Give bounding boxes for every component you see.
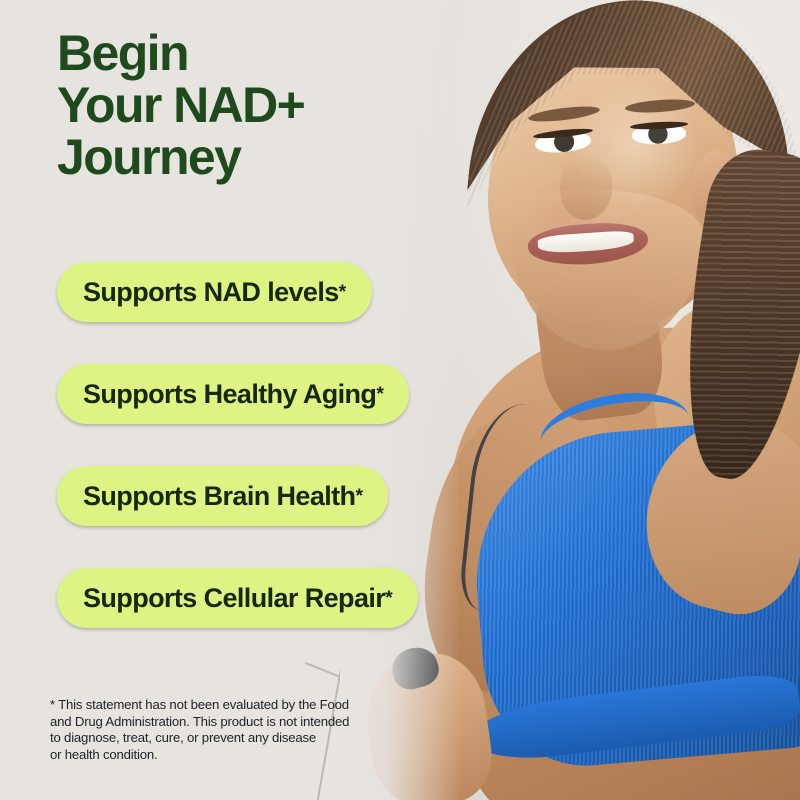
benefit-pill-nad-levels[interactable]: Supports NAD levels* (57, 262, 372, 322)
benefit-label: Supports Healthy Aging (83, 379, 376, 410)
benefit-pill-healthy-aging[interactable]: Supports Healthy Aging* (57, 364, 409, 424)
content-layer: Begin Your NAD+ Journey Supports NAD lev… (0, 0, 800, 800)
benefits-list: Supports NAD levels* Supports Healthy Ag… (57, 262, 418, 670)
benefit-pill-brain-health[interactable]: Supports Brain Health* (57, 466, 388, 526)
page-title: Begin Your NAD+ Journey (57, 28, 304, 183)
benefit-pill-cellular-repair[interactable]: Supports Cellular Repair* (57, 568, 418, 628)
list-item: Supports Brain Health* (57, 466, 418, 568)
list-item: Supports Cellular Repair* (57, 568, 418, 670)
fda-disclaimer: * This statement has not been evaluated … (50, 697, 410, 763)
list-item: Supports Healthy Aging* (57, 364, 418, 466)
benefit-label: Supports Brain Health (83, 481, 355, 512)
marketing-banner: Begin Your NAD+ Journey Supports NAD lev… (0, 0, 800, 800)
benefit-label: Supports NAD levels (83, 277, 339, 308)
benefit-label: Supports Cellular Repair (83, 583, 385, 614)
list-item: Supports NAD levels* (57, 262, 418, 364)
